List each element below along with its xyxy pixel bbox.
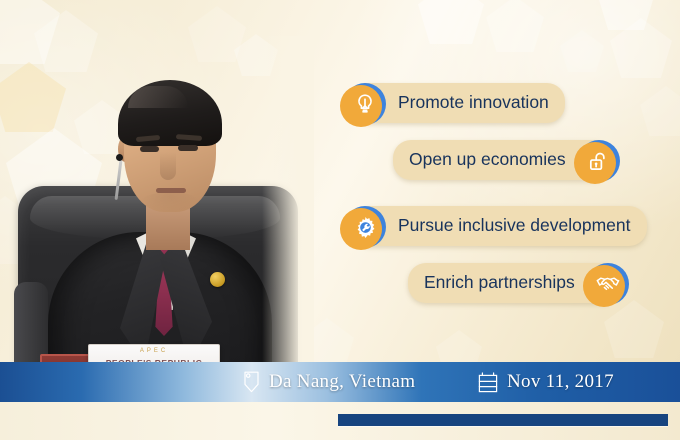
handshake-icon <box>587 263 629 305</box>
unlock-icon <box>578 140 620 182</box>
eye-right <box>178 145 198 151</box>
pentagon-shape <box>640 86 680 136</box>
map-pin-icon <box>243 371 260 393</box>
bottom-accent-bar <box>338 414 668 426</box>
bullet-label-4: Enrich partnerships <box>408 263 607 303</box>
gear-wrench-icon <box>344 206 386 248</box>
bullet-label-2: Open up economies <box>393 140 598 180</box>
hair-highlight <box>128 86 188 108</box>
bullet-row-pursue-inclusive-development[interactable]: Pursue inclusive development <box>344 206 647 246</box>
bottom-strip <box>0 402 680 440</box>
event-date: Nov 11, 2017 <box>478 371 614 393</box>
lapel-pin-icon <box>210 272 225 287</box>
pentagon-shape <box>560 30 604 72</box>
slide-canvas: APEC PEOPLE'S REPUBLIC OF CHINA Promote … <box>0 0 680 440</box>
mouth <box>156 188 186 193</box>
lightbulb-icon <box>344 83 386 125</box>
pentagon-shape <box>610 18 672 78</box>
pentagon-shape <box>418 0 484 44</box>
chin-shading <box>140 192 200 214</box>
calendar-icon <box>478 372 498 393</box>
photo-edge-fade-right <box>262 36 314 388</box>
bullet-row-open-up-economies[interactable]: Open up economies <box>393 140 620 180</box>
eye-left <box>140 146 159 152</box>
nameplate-emblem-icon: APEC <box>89 348 219 354</box>
earpiece-icon <box>116 154 123 161</box>
bullet-row-promote-innovation[interactable]: Promote innovation <box>344 83 565 123</box>
event-footer-bar: Da Nang, Vietnam Nov 11, 2017 <box>0 362 680 402</box>
delegate-photo: APEC PEOPLE'S REPUBLIC OF CHINA <box>0 36 310 388</box>
event-location-label: Da Nang, Vietnam <box>269 371 415 393</box>
event-date-label: Nov 11, 2017 <box>507 371 614 393</box>
bullet-row-enrich-partnerships[interactable]: Enrich partnerships <box>408 263 629 303</box>
bullet-label-1: Promote innovation <box>366 83 565 123</box>
nose <box>160 152 176 180</box>
event-location: Da Nang, Vietnam <box>243 371 415 393</box>
bullet-label-3: Pursue inclusive development <box>366 206 647 246</box>
pentagon-shape <box>486 0 544 52</box>
pentagon-shape <box>598 0 654 30</box>
pentagon-shape <box>604 300 664 358</box>
